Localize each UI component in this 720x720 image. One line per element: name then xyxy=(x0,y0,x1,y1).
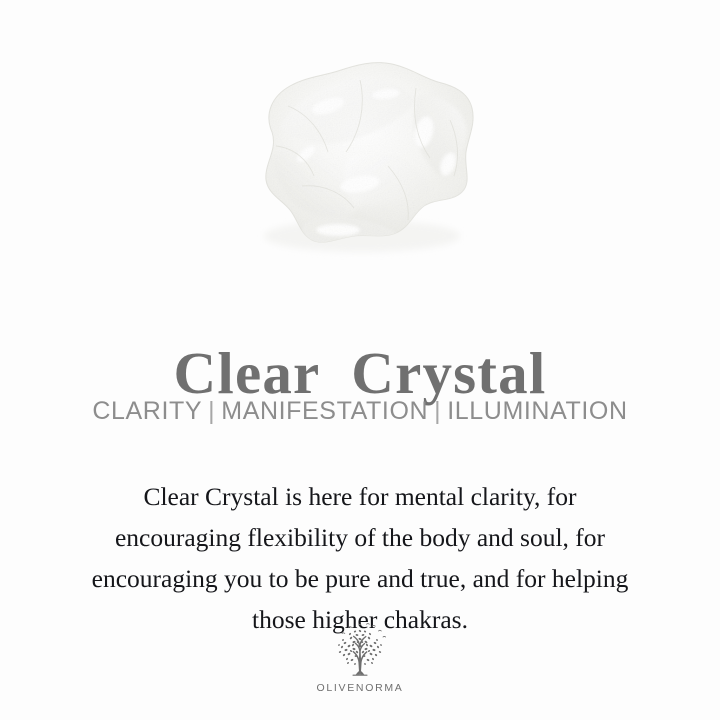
brand-logo: OLIVENORMA xyxy=(0,618,720,694)
clear-quartz-crystal-icon xyxy=(210,36,510,276)
keyword-clarity: CLARITY xyxy=(92,397,202,425)
description-line: Clear Crystal is here for mental clarity… xyxy=(34,476,686,517)
product-image-area xyxy=(0,0,720,285)
keyword-manifestation: MANIFESTATION xyxy=(221,397,428,425)
brand-name: OLIVENORMA xyxy=(0,682,720,694)
description-line: encouraging flexibility of the body and … xyxy=(34,517,686,558)
keyword-separator: | xyxy=(202,397,221,425)
keyword-illumination: ILLUMINATION xyxy=(447,397,627,425)
keyword-subtitle: CLARITY|MANIFESTATION|ILLUMINATION xyxy=(0,396,720,426)
crystal-info-card: Clear Crystal CLARITY|MANIFESTATION|ILLU… xyxy=(0,0,720,720)
description-line: encouraging you to be pure and true, and… xyxy=(34,558,686,599)
description-text: Clear Crystal is here for mental clarity… xyxy=(34,476,686,640)
olive-tree-icon xyxy=(328,618,392,680)
keyword-separator: | xyxy=(428,397,447,425)
